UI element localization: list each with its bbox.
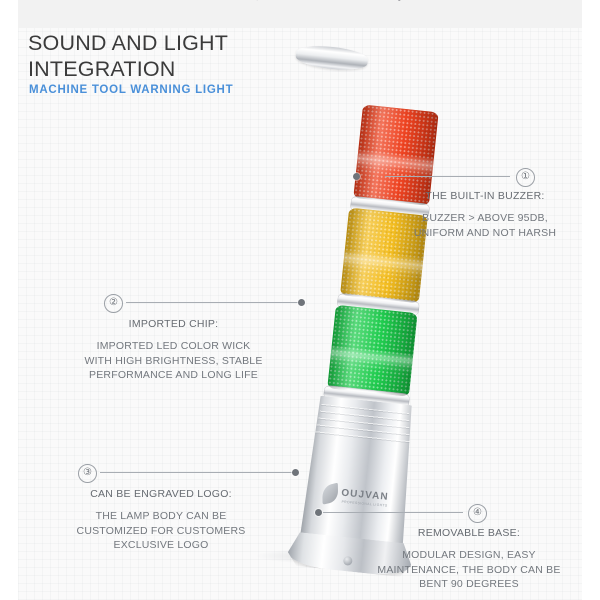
annotation-line: BENT 90 DEGREES — [358, 577, 580, 592]
annotation-heading-2: IMPORTED CHIP: — [66, 318, 281, 330]
annotation-line: CUSTOMIZED FOR CUSTOMERS — [52, 524, 270, 539]
leader-dot-3 — [292, 469, 299, 476]
annotation-line: MAINTENANCE, THE BODY CAN BE — [358, 563, 580, 578]
annotation-body-1: BUZZER > ABOVE 95DB, UNIFORM AND NOT HAR… — [390, 211, 580, 240]
annotation-line: THE LAMP BODY CAN BE — [52, 509, 270, 524]
content-canvas: SOUND AND LIGHT INTEGRATION MACHINE TOOL… — [18, 28, 582, 600]
annotation-number-2: ② — [104, 294, 123, 313]
annotation-line: BUZZER > ABOVE 95DB, — [390, 211, 580, 226]
annotation-heading-1: THE BUILT-IN BUZZER: — [390, 190, 580, 202]
leader-dot-4 — [315, 509, 322, 516]
annotation-3: ③ CAN BE ENGRAVED LOGO: THE LAMP BODY CA… — [52, 466, 270, 553]
annotation-1: ① THE BUILT-IN BUZZER: BUZZER > ABOVE 95… — [390, 170, 580, 240]
annotation-line: PERFORMANCE AND LONG LIFE — [66, 368, 281, 383]
top-banner-text: CNC MACHINE TOOLS, INDUSTRIAL AND WARNIN… — [18, 0, 582, 1]
annotation-2: ② IMPORTED CHIP: IMPORTED LED COLOR WICK… — [66, 296, 281, 383]
annotation-line: UNIFORM AND NOT HARSH — [390, 226, 580, 241]
annotation-number-3: ③ — [78, 464, 97, 483]
annotation-body-2: IMPORTED LED COLOR WICK WITH HIGH BRIGHT… — [66, 339, 281, 383]
annotation-number-1: ① — [516, 168, 535, 187]
annotation-4: ④ REMOVABLE BASE: MODULAR DESIGN, EASY M… — [358, 506, 580, 592]
annotation-line: MODULAR DESIGN, EASY — [358, 548, 580, 563]
leader-line-1 — [385, 176, 510, 177]
logo-swoosh-icon — [322, 483, 338, 505]
annotation-number-4: ④ — [468, 504, 487, 523]
annotation-line: EXCLUSIVE LOGO — [52, 538, 270, 553]
annotation-body-3: THE LAMP BODY CAN BE CUSTOMIZED FOR CUST… — [52, 509, 270, 553]
leader-line-4 — [323, 512, 463, 513]
leader-line-3 — [100, 472, 296, 473]
annotation-line: WITH HIGH BRIGHTNESS, STABLE — [66, 354, 281, 369]
annotation-body-4: MODULAR DESIGN, EASY MAINTENANCE, THE BO… — [358, 548, 580, 592]
top-banner: CNC MACHINE TOOLS, INDUSTRIAL AND WARNIN… — [18, 0, 582, 28]
annotation-line: IMPORTED LED COLOR WICK — [66, 339, 281, 354]
leader-dot-1 — [353, 173, 360, 180]
infographic-page: CNC MACHINE TOOLS, INDUSTRIAL AND WARNIN… — [0, 0, 600, 600]
leader-dot-2 — [298, 299, 305, 306]
annotation-heading-3: CAN BE ENGRAVED LOGO: — [52, 488, 270, 500]
annotation-heading-4: REMOVABLE BASE: — [358, 527, 580, 539]
green-lens-segment — [327, 305, 417, 397]
leader-line-2 — [126, 302, 302, 303]
